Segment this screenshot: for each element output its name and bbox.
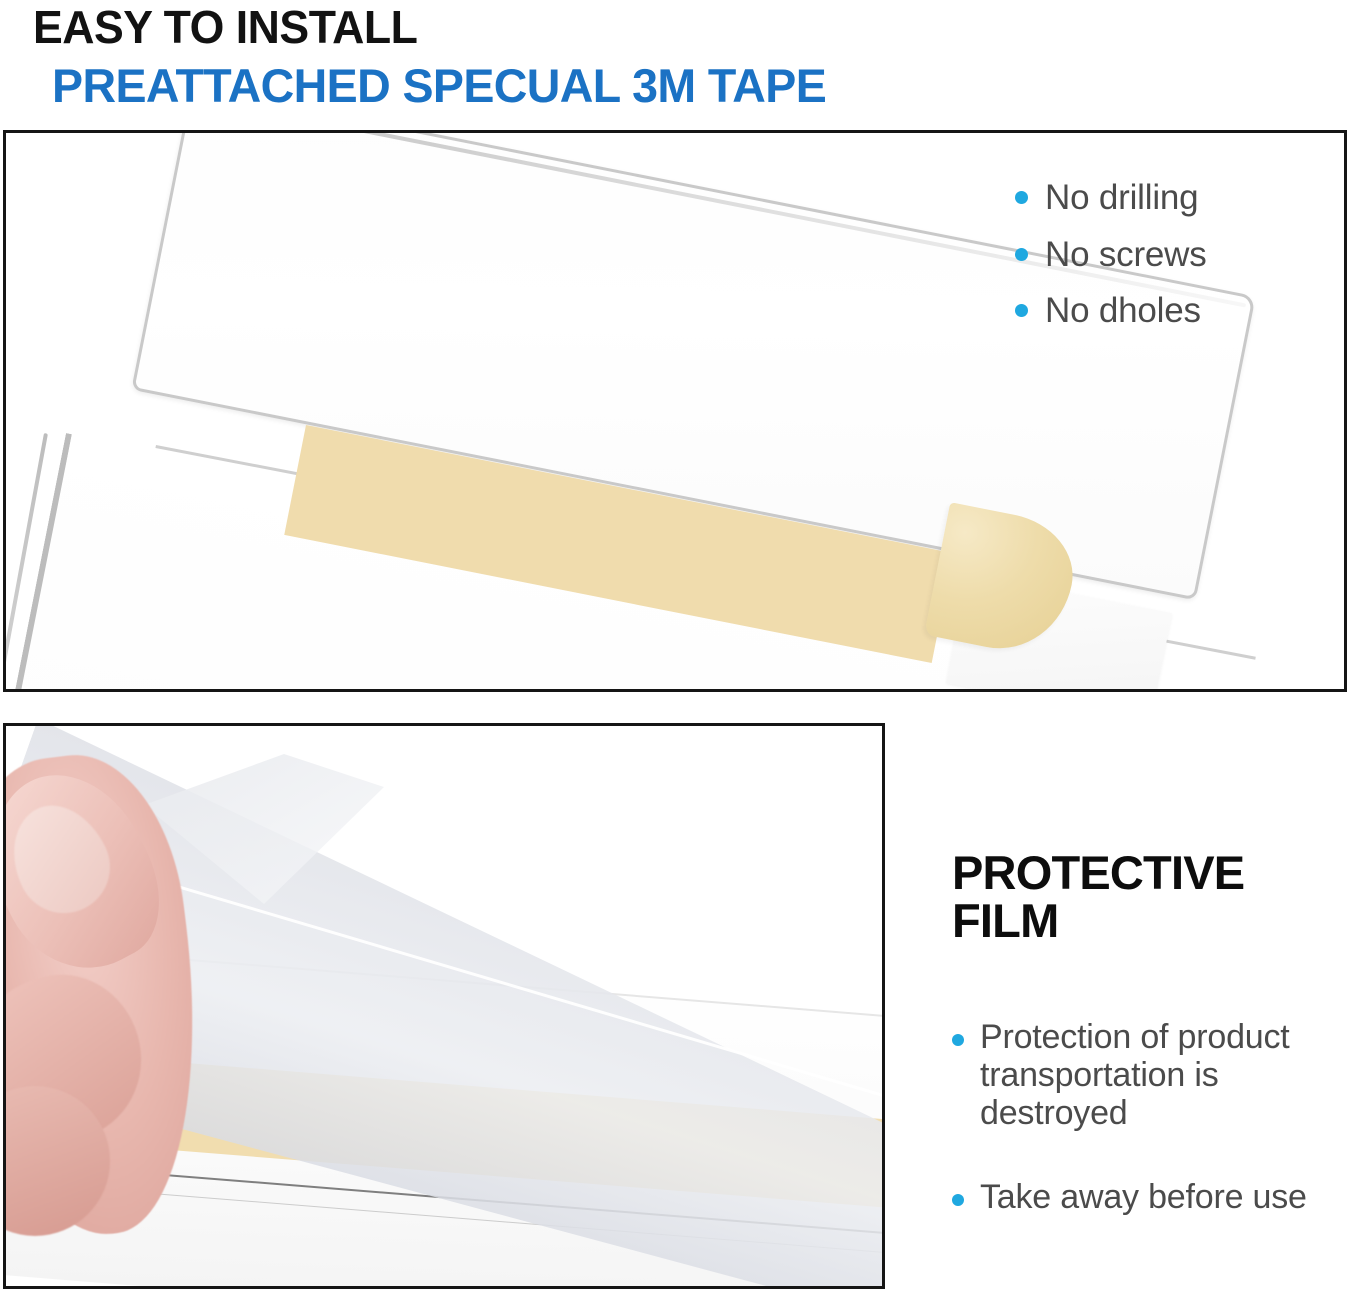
install-benefits-list: No drilling No screws No dholes — [1015, 177, 1330, 347]
protective-film-text-column: PROTECTIVE FILM Protection of product tr… — [952, 723, 1352, 1262]
list-item: No dholes — [1015, 290, 1330, 333]
protective-film-benefits-list: Protection of product transportation is … — [952, 1018, 1352, 1216]
list-item: No drilling — [1015, 177, 1330, 220]
bullet-dot-icon — [952, 1194, 964, 1206]
protective-film-illustration — [6, 726, 882, 1286]
list-item: Protection of product transportation is … — [952, 1018, 1352, 1132]
section-heading: PROTECTIVE FILM — [952, 849, 1352, 946]
headline-secondary: PREATTACHED SPECUAL 3M TAPE — [52, 62, 826, 109]
list-item-label: No drilling — [1045, 177, 1198, 220]
header-banner: EASY TO INSTALL PREATTACHED SPECUAL 3M T… — [0, 0, 1360, 128]
list-item-label: No screws — [1045, 234, 1207, 277]
bullet-dot-icon — [1015, 304, 1028, 317]
list-item-label: No dholes — [1045, 290, 1201, 333]
bullet-dot-icon — [1015, 248, 1028, 261]
list-item: No screws — [1015, 234, 1330, 277]
bullet-dot-icon — [952, 1034, 964, 1046]
list-item-label: Protection of product transportation is … — [980, 1018, 1352, 1132]
list-item: Take away before use — [952, 1178, 1352, 1216]
easy-to-install-panel: No drilling No screws No dholes — [3, 130, 1347, 692]
bullet-dot-icon — [1015, 191, 1028, 204]
headline-primary: EASY TO INSTALL — [33, 4, 417, 50]
list-item-label: Take away before use — [980, 1178, 1307, 1216]
protective-film-panel — [3, 723, 885, 1289]
